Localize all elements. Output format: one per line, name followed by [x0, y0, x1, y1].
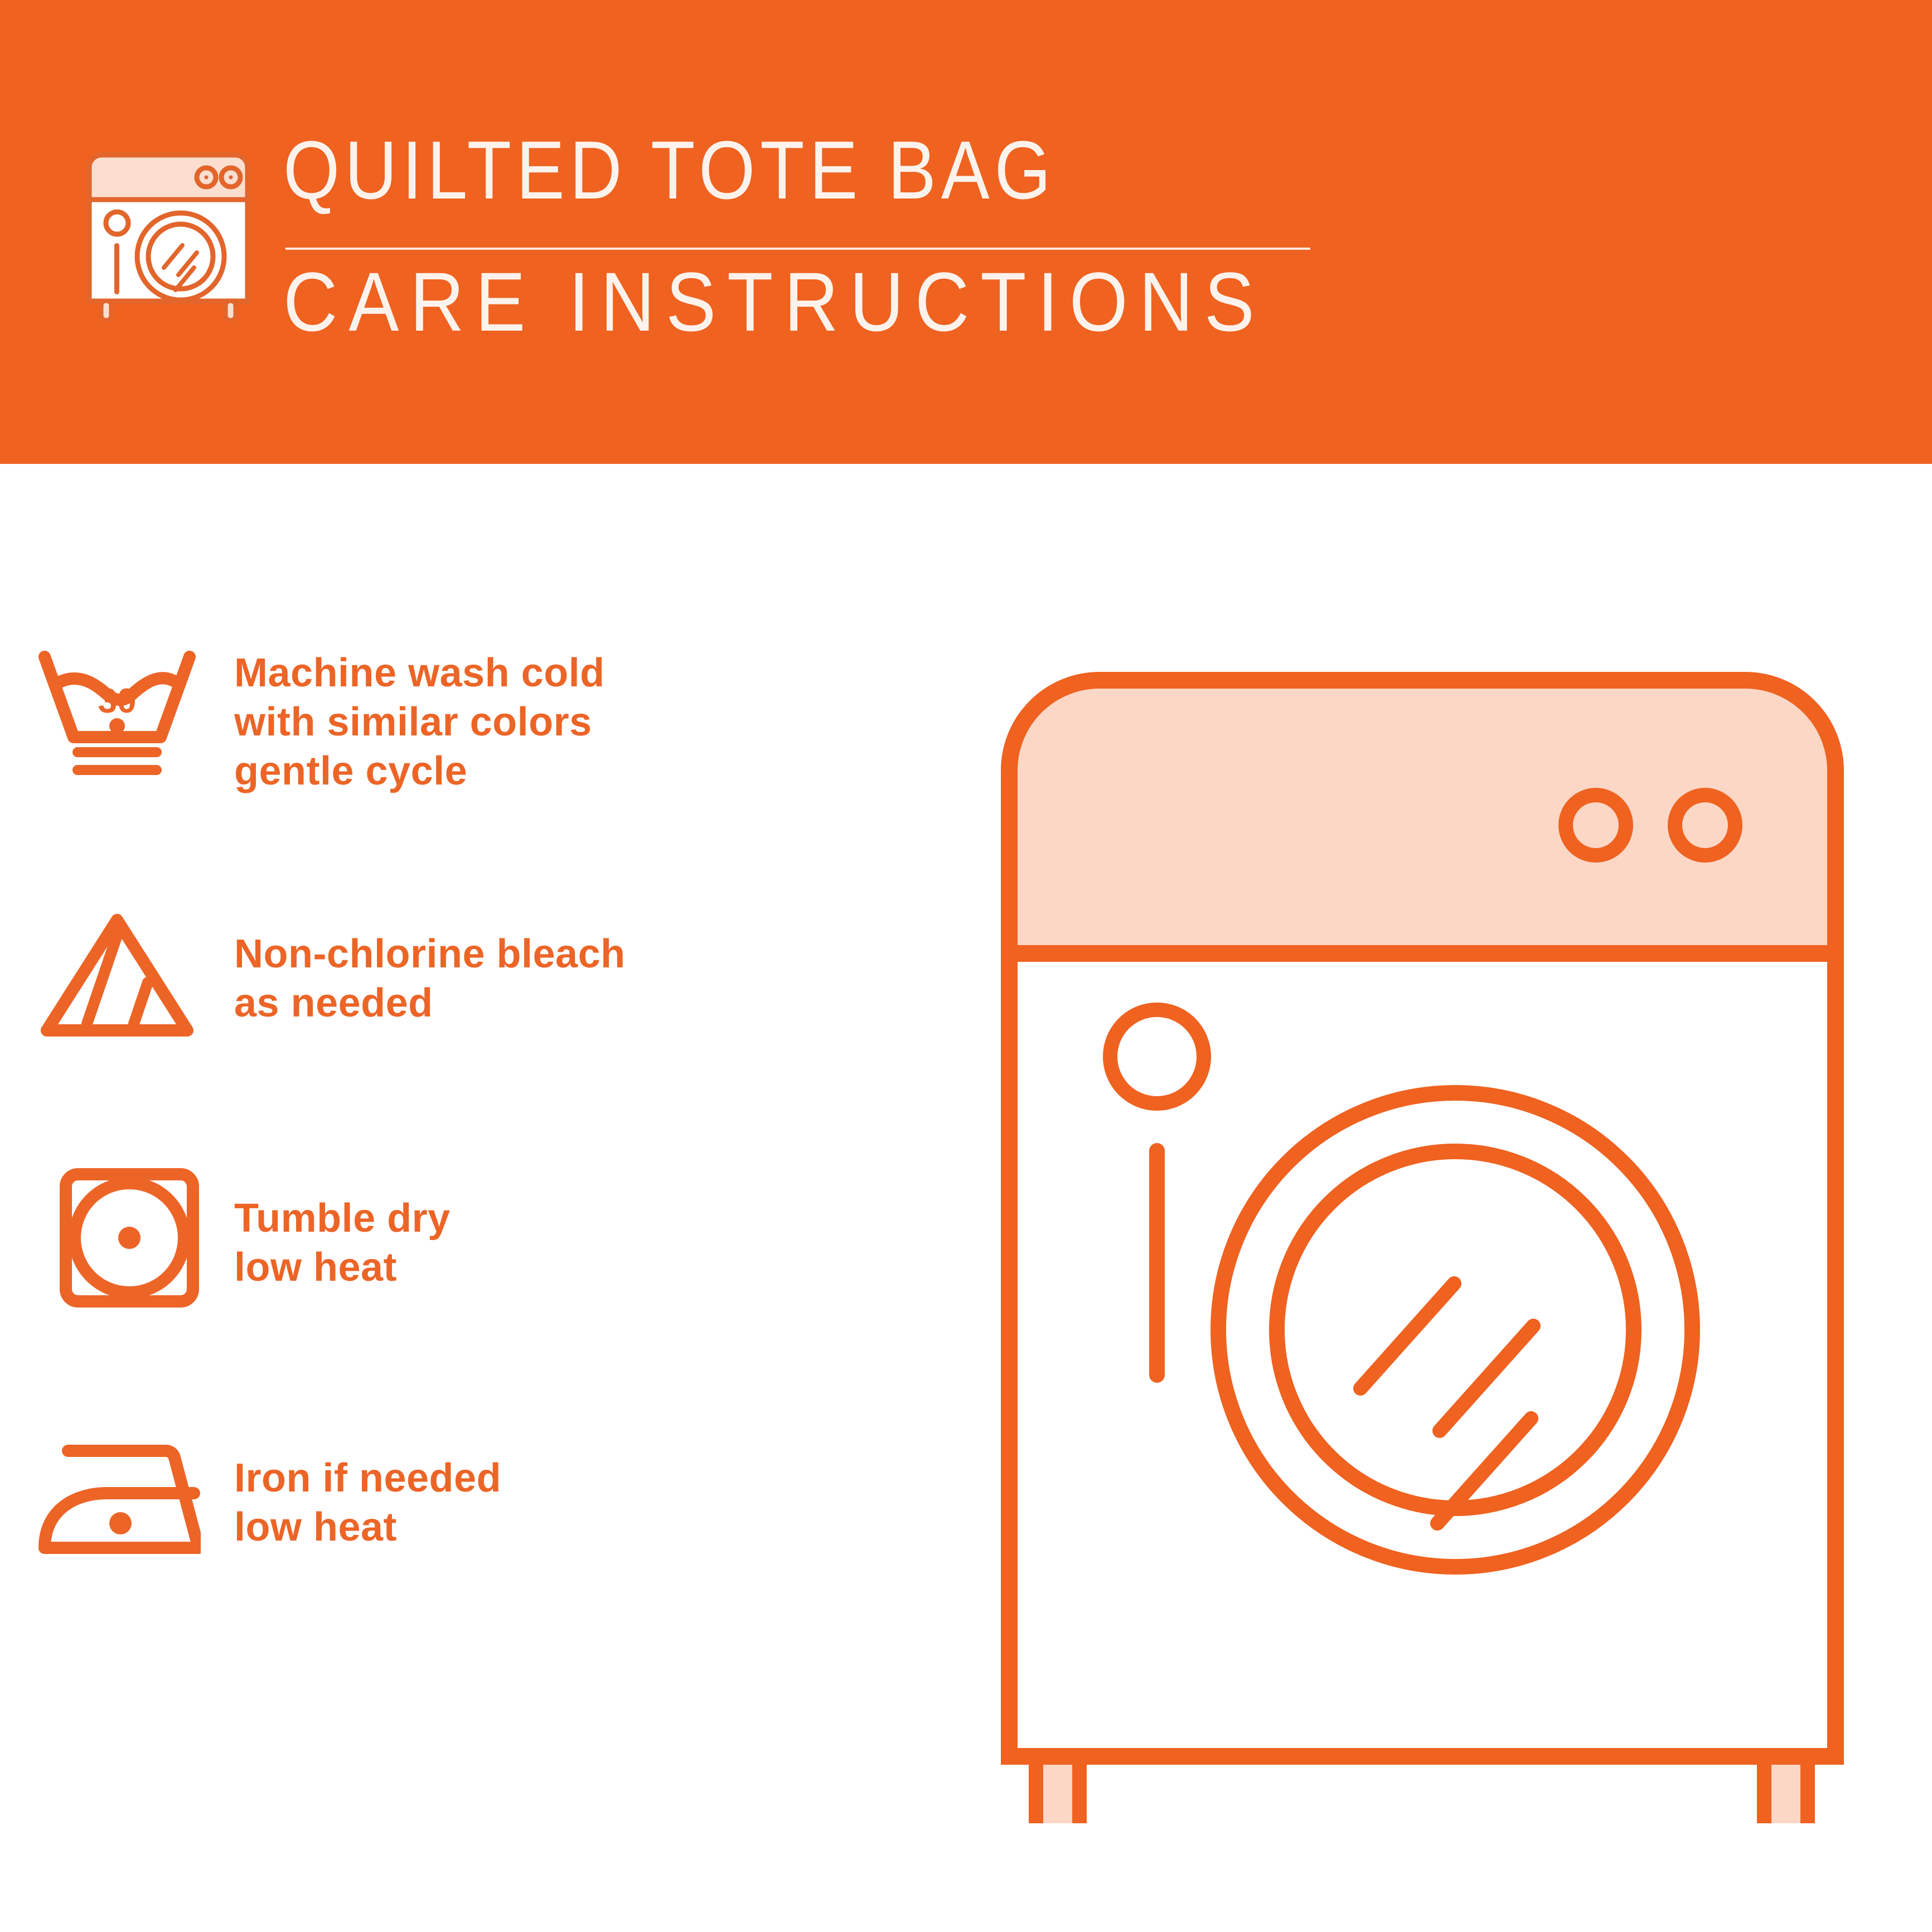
machine-knob-left: [1566, 795, 1626, 855]
list-item: Iron if needed low heat: [0, 1422, 948, 1684]
page-subtitle: CARE INSTRUCTIONS: [283, 260, 1266, 343]
list-item: 30 Machine wash cold with similar colors…: [0, 636, 948, 898]
non-chlorine-bleach-triangle-icon: [0, 898, 234, 1048]
care-instruction-list: 30 Machine wash cold with similar colors…: [0, 636, 948, 1684]
washing-machine-icon: [85, 138, 252, 322]
front-load-washing-machine-illustration: [970, 641, 1873, 1823]
header-banner: QUILTED TOTE BAG CARE INSTRUCTIONS: [0, 0, 1932, 464]
care-line: Iron if needed: [234, 1454, 501, 1503]
care-line: gentle cycle: [234, 747, 605, 796]
iron-low-heat-icon: [0, 1422, 234, 1572]
tumble-dry-low-icon: [0, 1160, 234, 1310]
care-line: Machine wash cold: [234, 649, 605, 698]
header-title-group: QUILTED TOTE BAG: [283, 129, 1398, 212]
machine-handle-bar: [1149, 1143, 1165, 1383]
care-line: Tumble dry: [234, 1194, 451, 1243]
title-divider: [285, 248, 1310, 250]
list-item: Tumble dry low heat: [0, 1160, 948, 1422]
care-instruction-text: Non-chlorine bleach as needed: [234, 898, 626, 1028]
care-line: low heat: [234, 1503, 501, 1552]
machine-body: [1009, 953, 1836, 1756]
care-instruction-text: Tumble dry low heat: [234, 1160, 451, 1292]
wash-temperature-label: 30: [98, 682, 137, 720]
care-line: Non-chlorine bleach: [234, 930, 626, 979]
care-line: as needed: [234, 979, 626, 1028]
care-instruction-text: Machine wash cold with similar colors ge…: [234, 636, 605, 796]
care-instruction-text: Iron if needed low heat: [234, 1422, 501, 1552]
care-line: with similar colors: [234, 698, 605, 747]
page-title: QUILTED TOTE BAG: [283, 129, 1265, 212]
machine-knob-right: [1675, 795, 1735, 855]
list-item: Non-chlorine bleach as needed: [0, 898, 948, 1160]
care-line: low heat: [234, 1243, 451, 1292]
wash-tub-30-gentle-icon: 30: [0, 636, 234, 786]
